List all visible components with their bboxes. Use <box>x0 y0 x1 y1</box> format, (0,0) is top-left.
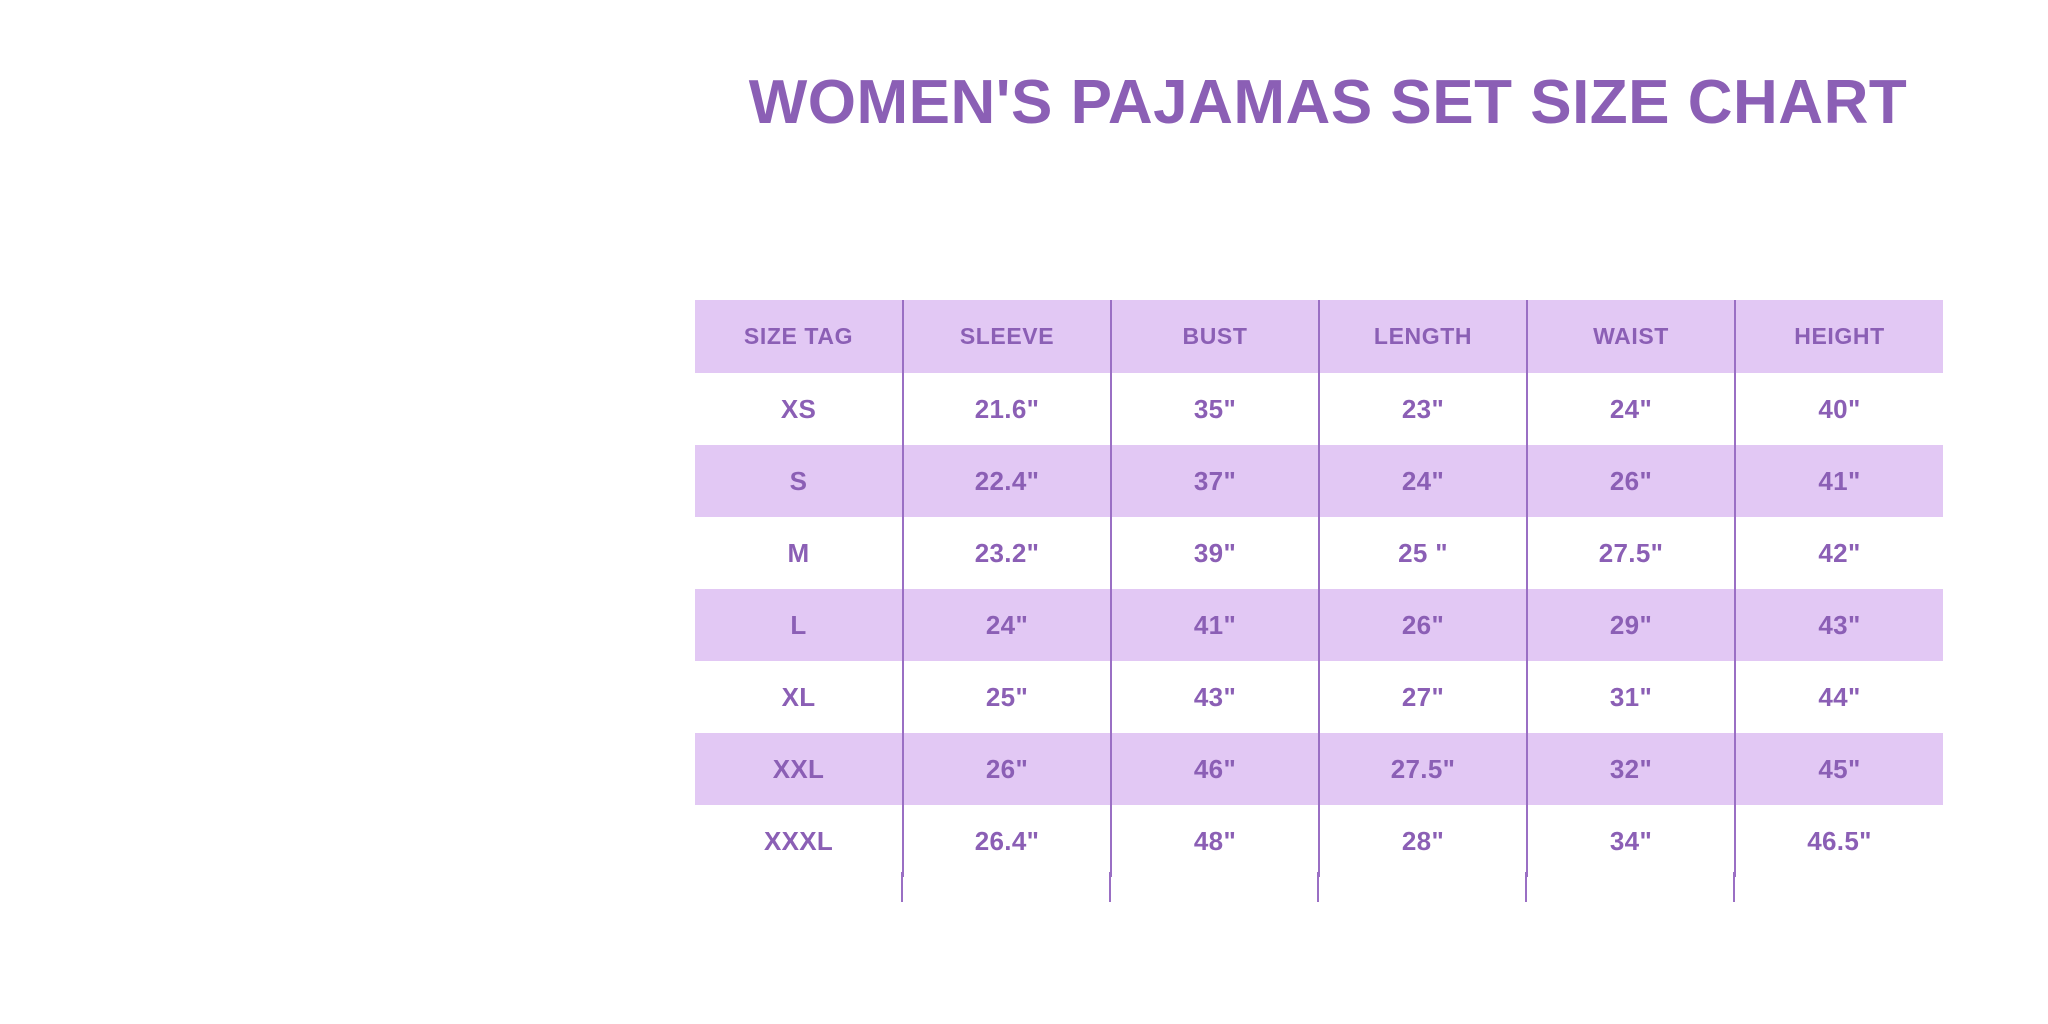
cell-size-tag: XXL <box>695 733 903 805</box>
size-chart-page: WOMEN'S PAJAMAS SET SIZE CHART SIZE TAG … <box>0 0 2048 1024</box>
column-header-waist: WAIST <box>1527 300 1735 373</box>
cell-length: 23" <box>1319 373 1527 445</box>
table-body: XS 21.6" 35" 23" 24" 40" S 22.4" 37" 24"… <box>695 373 1943 877</box>
cell-bust: 37" <box>1111 445 1319 517</box>
table-row: XL 25" 43" 27" 31" 44" <box>695 661 1943 733</box>
cell-height: 41" <box>1735 445 1943 517</box>
cell-height: 42" <box>1735 517 1943 589</box>
cell-height: 46.5" <box>1735 805 1943 877</box>
cell-waist: 31" <box>1527 661 1735 733</box>
cell-height: 43" <box>1735 589 1943 661</box>
cell-length: 27.5" <box>1319 733 1527 805</box>
cell-waist: 34" <box>1527 805 1735 877</box>
table-row: XS 21.6" 35" 23" 24" 40" <box>695 373 1943 445</box>
cell-waist: 29" <box>1527 589 1735 661</box>
cell-length: 28" <box>1319 805 1527 877</box>
cell-sleeve: 22.4" <box>903 445 1111 517</box>
cell-sleeve: 26" <box>903 733 1111 805</box>
cell-length: 26" <box>1319 589 1527 661</box>
column-header-length: LENGTH <box>1319 300 1527 373</box>
cell-size-tag: XL <box>695 661 903 733</box>
cell-bust: 46" <box>1111 733 1319 805</box>
cell-waist: 26" <box>1527 445 1735 517</box>
cell-size-tag: L <box>695 589 903 661</box>
cell-length: 25 " <box>1319 517 1527 589</box>
cell-sleeve: 21.6" <box>903 373 1111 445</box>
table-header-row: SIZE TAG SLEEVE BUST LENGTH WAIST HEIGHT <box>695 300 1943 373</box>
cell-bust: 41" <box>1111 589 1319 661</box>
cell-size-tag: XS <box>695 373 903 445</box>
cell-height: 40" <box>1735 373 1943 445</box>
table-row: L 24" 41" 26" 29" 43" <box>695 589 1943 661</box>
table-row: S 22.4" 37" 24" 26" 41" <box>695 445 1943 517</box>
column-header-size-tag: SIZE TAG <box>695 300 903 373</box>
size-chart-table: SIZE TAG SLEEVE BUST LENGTH WAIST HEIGHT… <box>695 300 1943 877</box>
cell-bust: 35" <box>1111 373 1319 445</box>
table-header: SIZE TAG SLEEVE BUST LENGTH WAIST HEIGHT <box>695 300 1943 373</box>
cell-size-tag: S <box>695 445 903 517</box>
cell-size-tag: XXXL <box>695 805 903 877</box>
table-row: M 23.2" 39" 25 " 27.5" 42" <box>695 517 1943 589</box>
cell-waist: 27.5" <box>1527 517 1735 589</box>
column-header-height: HEIGHT <box>1735 300 1943 373</box>
column-header-bust: BUST <box>1111 300 1319 373</box>
size-table-container: SIZE TAG SLEEVE BUST LENGTH WAIST HEIGHT… <box>695 300 1943 877</box>
cell-length: 27" <box>1319 661 1527 733</box>
cell-sleeve: 23.2" <box>903 517 1111 589</box>
cell-bust: 43" <box>1111 661 1319 733</box>
page-title: WOMEN'S PAJAMAS SET SIZE CHART <box>0 72 2048 134</box>
cell-height: 45" <box>1735 733 1943 805</box>
cell-sleeve: 25" <box>903 661 1111 733</box>
column-header-sleeve: SLEEVE <box>903 300 1111 373</box>
cell-bust: 48" <box>1111 805 1319 877</box>
cell-waist: 24" <box>1527 373 1735 445</box>
cell-length: 24" <box>1319 445 1527 517</box>
cell-height: 44" <box>1735 661 1943 733</box>
table-row: XXL 26" 46" 27.5" 32" 45" <box>695 733 1943 805</box>
cell-size-tag: M <box>695 517 903 589</box>
cell-waist: 32" <box>1527 733 1735 805</box>
cell-bust: 39" <box>1111 517 1319 589</box>
table-row: XXXL 26.4" 48" 28" 34" 46.5" <box>695 805 1943 877</box>
cell-sleeve: 24" <box>903 589 1111 661</box>
cell-sleeve: 26.4" <box>903 805 1111 877</box>
